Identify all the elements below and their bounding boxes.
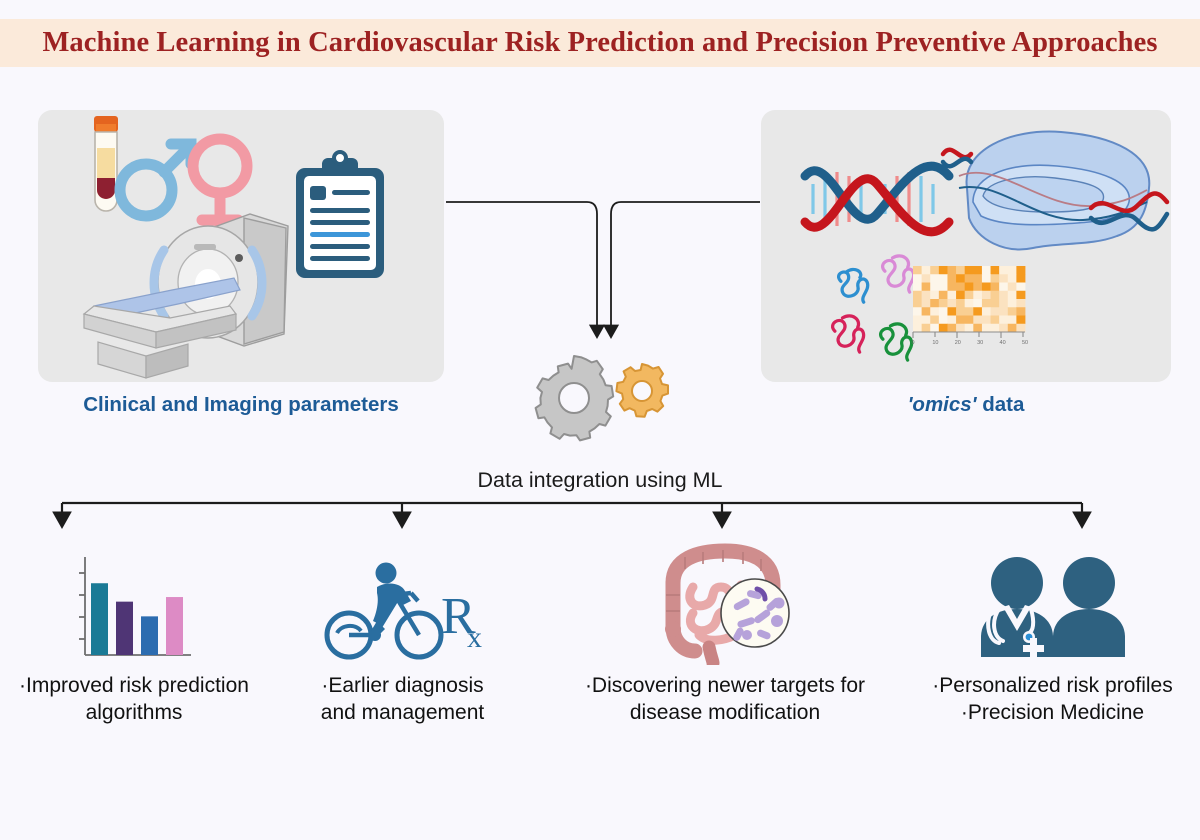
outcome-personalized-risk: ·Personalized risk profiles ·Precision M… [905, 540, 1200, 727]
outcome-text-1: ·Earlier diagnosis and management [275, 673, 530, 727]
cyclist-and-prescription-icon: R x [315, 547, 490, 665]
gears-icon [518, 350, 698, 445]
bar-4 [166, 597, 183, 655]
gear-small-icon [616, 364, 668, 417]
outcome-art-0 [0, 540, 268, 665]
outcome-text-0: ·Improved risk prediction algorithms [0, 673, 268, 727]
outcome-newer-targets: ·Discovering newer targets for disease m… [545, 540, 905, 727]
outcome-earlier-diagnosis: R x ·Earlier diagnosis and management [275, 540, 530, 727]
bar-2 [116, 602, 133, 655]
bar-3 [141, 616, 158, 655]
outcome-art-2 [545, 540, 905, 665]
bar-chart-icon [69, 545, 199, 665]
outcome-improved-risk-prediction: ·Improved risk prediction algorithms [0, 540, 268, 727]
outcome-distributor-arrows [0, 498, 1200, 536]
doctor-and-patient-icon [973, 545, 1133, 665]
data-integration-label: Data integration using ML [0, 468, 1200, 493]
patient-silhouette-icon [1053, 557, 1125, 657]
svg-text:x: x [467, 621, 482, 654]
outcome-text-3: ·Personalized risk profiles ·Precision M… [905, 673, 1200, 727]
bar-1 [91, 583, 108, 655]
gear-large-icon [536, 356, 614, 440]
outcome-text-2: ·Discovering newer targets for disease m… [545, 673, 905, 727]
doctor-silhouette-icon [981, 557, 1053, 657]
page-title: Machine Learning in Cardiovascular Risk … [42, 27, 1157, 59]
outcome-art-1: R x [275, 540, 530, 665]
title-banner: Machine Learning in Cardiovascular Risk … [0, 19, 1200, 67]
infographic-canvas: Machine Learning in Cardiovascular Risk … [0, 0, 1200, 840]
intestine-microbiome-icon [649, 543, 801, 665]
outcome-art-3 [905, 540, 1200, 665]
